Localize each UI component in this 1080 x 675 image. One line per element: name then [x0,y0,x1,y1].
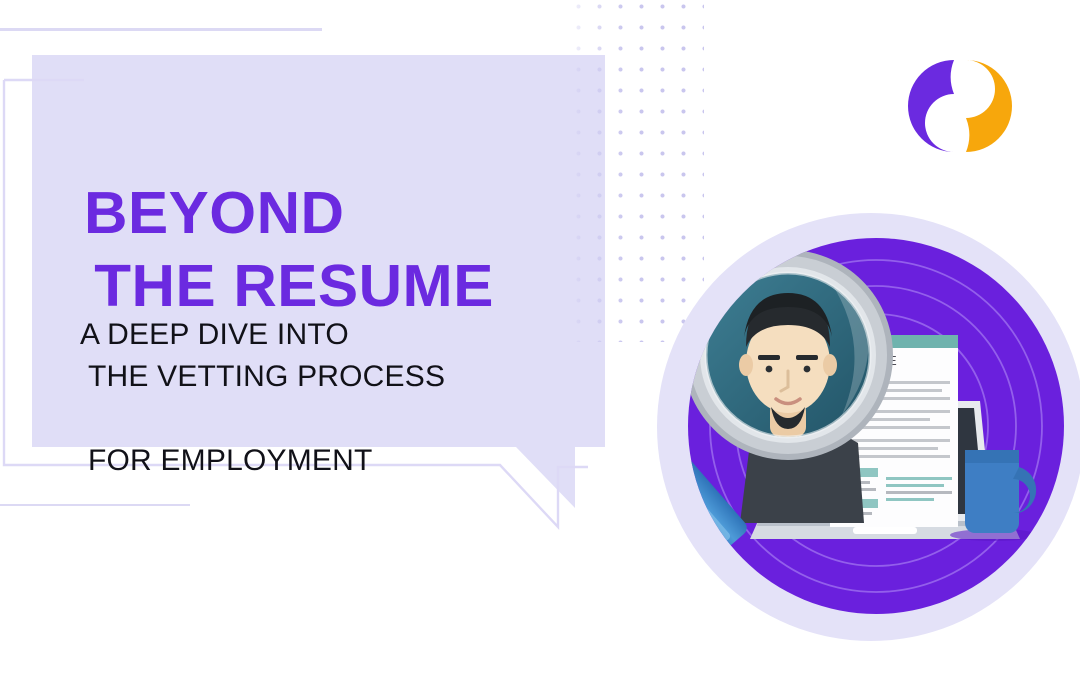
slide-canvas: BEYOND THE RESUME A DEEP DIVE INTO THE V… [0,0,1080,675]
title-line-1: BEYOND [84,180,345,246]
subtitle-line-1: A DEEP DIVE INTO [80,318,349,351]
laptop-trackpad [853,527,917,534]
page-subtitle: A DEEP DIVE INTO THE VETTING PROCESS FOR… [80,272,600,524]
resume-vetting-illustration: RESUME [640,205,1080,655]
logo-orange-ring [966,60,1012,152]
logo-purple-ring [908,60,954,152]
subtitle-line-2: THE VETTING PROCESS [80,356,600,398]
brand-logo-icon [902,56,1018,156]
subtitle-line-3: FOR EMPLOYMENT [80,440,600,482]
